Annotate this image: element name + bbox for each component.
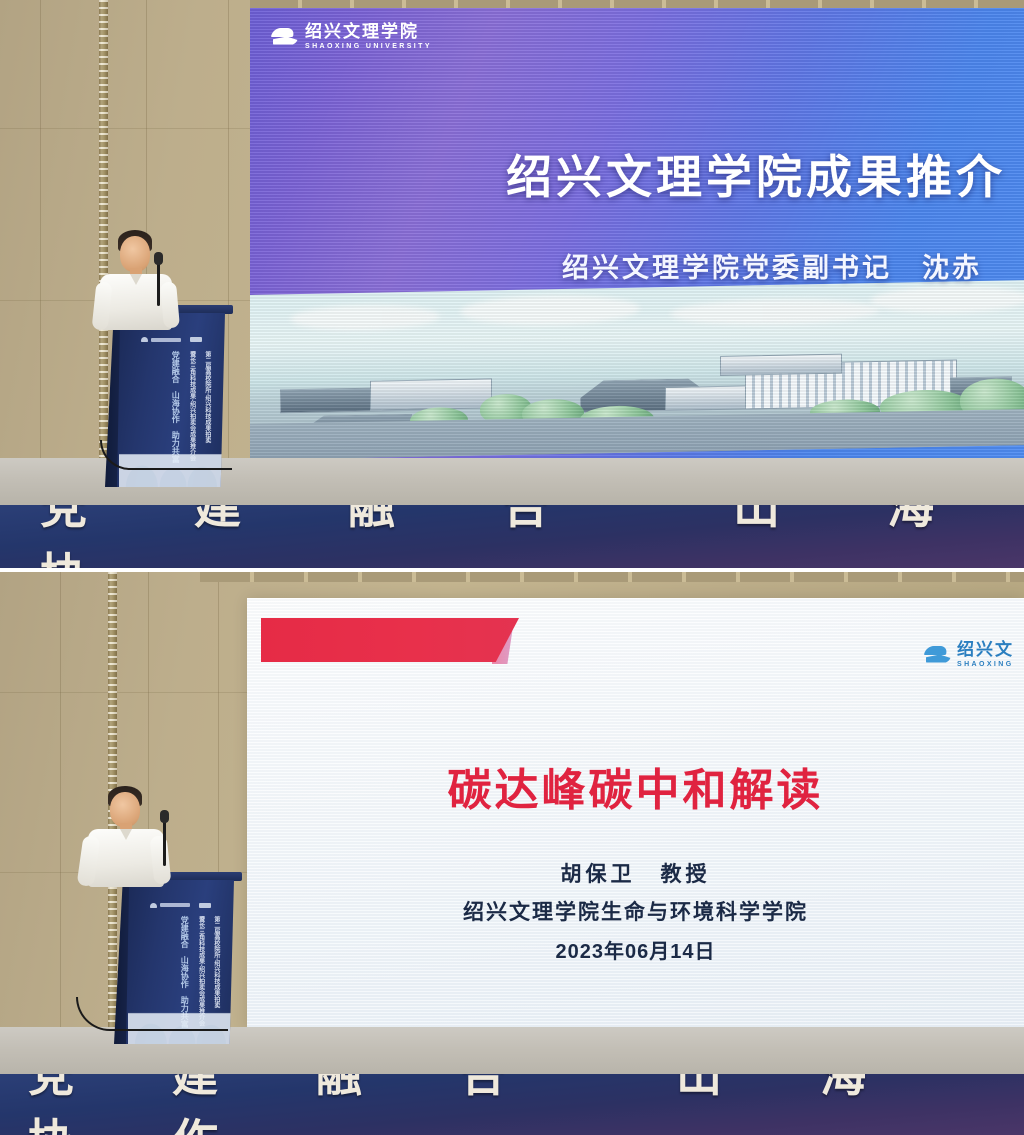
speaker-head — [110, 792, 140, 827]
microphone-stem-top — [157, 258, 160, 306]
microphone-stem-bottom — [163, 816, 166, 866]
shaoxing-university-wave-logo-icon — [272, 28, 298, 47]
led-slide-title: 绍兴文理学院成果推介 — [250, 141, 1006, 207]
microphone-head-top — [154, 252, 163, 265]
stage-banner-text-bottom: 党 建 融 合 山 海 协 作 — [0, 1074, 1024, 1135]
projection-screen-slide[interactable]: 绍兴文 SHAOXING 碳达峰碳中和解读 胡保卫 教授 绍兴文理学院生命与环境… — [247, 598, 1024, 1030]
speaker-collar — [130, 274, 142, 285]
podium-logo — [150, 903, 211, 908]
shaoxing-university-wave-logo-icon — [925, 646, 951, 665]
speaker-right-arm — [150, 835, 172, 885]
logo-chinese-text: 绍兴文 — [957, 642, 1014, 659]
slide-date: 2023年06月14日 — [247, 935, 1024, 964]
led-university-logo: 绍兴文理学院 SHAOXING UNIVERSITY — [272, 24, 432, 50]
speaker-top — [92, 230, 184, 326]
stage-banner-top[interactable]: 党 建 融 合 山 海 协 — [0, 505, 1024, 568]
slide-red-accent-band — [261, 618, 519, 662]
slide-university-logo: 绍兴文 SHAOXING — [925, 642, 1014, 668]
slide-presenter-affiliation: 绍兴文理学院生命与环境科学学院 — [247, 896, 1024, 926]
floor-cable-top — [100, 440, 232, 470]
ceiling-rail-bottom — [200, 572, 1024, 582]
led-screen-slide[interactable]: 绍兴文理学院 SHAOXING UNIVERSITY 绍兴文理学院成果推介 绍兴… — [250, 8, 1024, 460]
screenshot-root: 绍兴文理学院 SHAOXING UNIVERSITY 绍兴文理学院成果推介 绍兴… — [0, 0, 1024, 1135]
logo-chinese-text: 绍兴文理学院 — [305, 24, 432, 41]
speaker-right-arm — [160, 281, 180, 328]
logo-english-text: SHAOXING UNIVERSITY — [305, 43, 432, 50]
logo-english-text: SHAOXING — [957, 661, 1014, 668]
speaker-head — [120, 236, 150, 272]
campus-aerial-photo — [250, 280, 1024, 460]
microphone-head-bottom — [160, 810, 169, 823]
stage-banner-text-top: 党 建 融 合 山 海 协 — [0, 505, 1024, 568]
stage-banner-bottom[interactable]: 党 建 融 合 山 海 协 作 — [0, 1074, 1024, 1135]
speaker-collar — [120, 829, 132, 840]
top-photo-panel: 绍兴文理学院 SHAOXING UNIVERSITY 绍兴文理学院成果推介 绍兴… — [0, 0, 1024, 568]
led-slide-subtitle: 绍兴文理学院党委副书记 沈赤 — [250, 246, 982, 285]
floor-cable-bottom — [76, 997, 228, 1031]
slide-presenter-name: 胡保卫 教授 — [247, 858, 1024, 888]
slide-title: 碳达峰碳中和解读 — [247, 754, 1024, 818]
podium-logo — [141, 337, 202, 342]
speaker-bottom — [78, 786, 174, 886]
bottom-photo-panel: 绍兴文 SHAOXING 碳达峰碳中和解读 胡保卫 教授 绍兴文理学院生命与环境… — [0, 572, 1024, 1135]
